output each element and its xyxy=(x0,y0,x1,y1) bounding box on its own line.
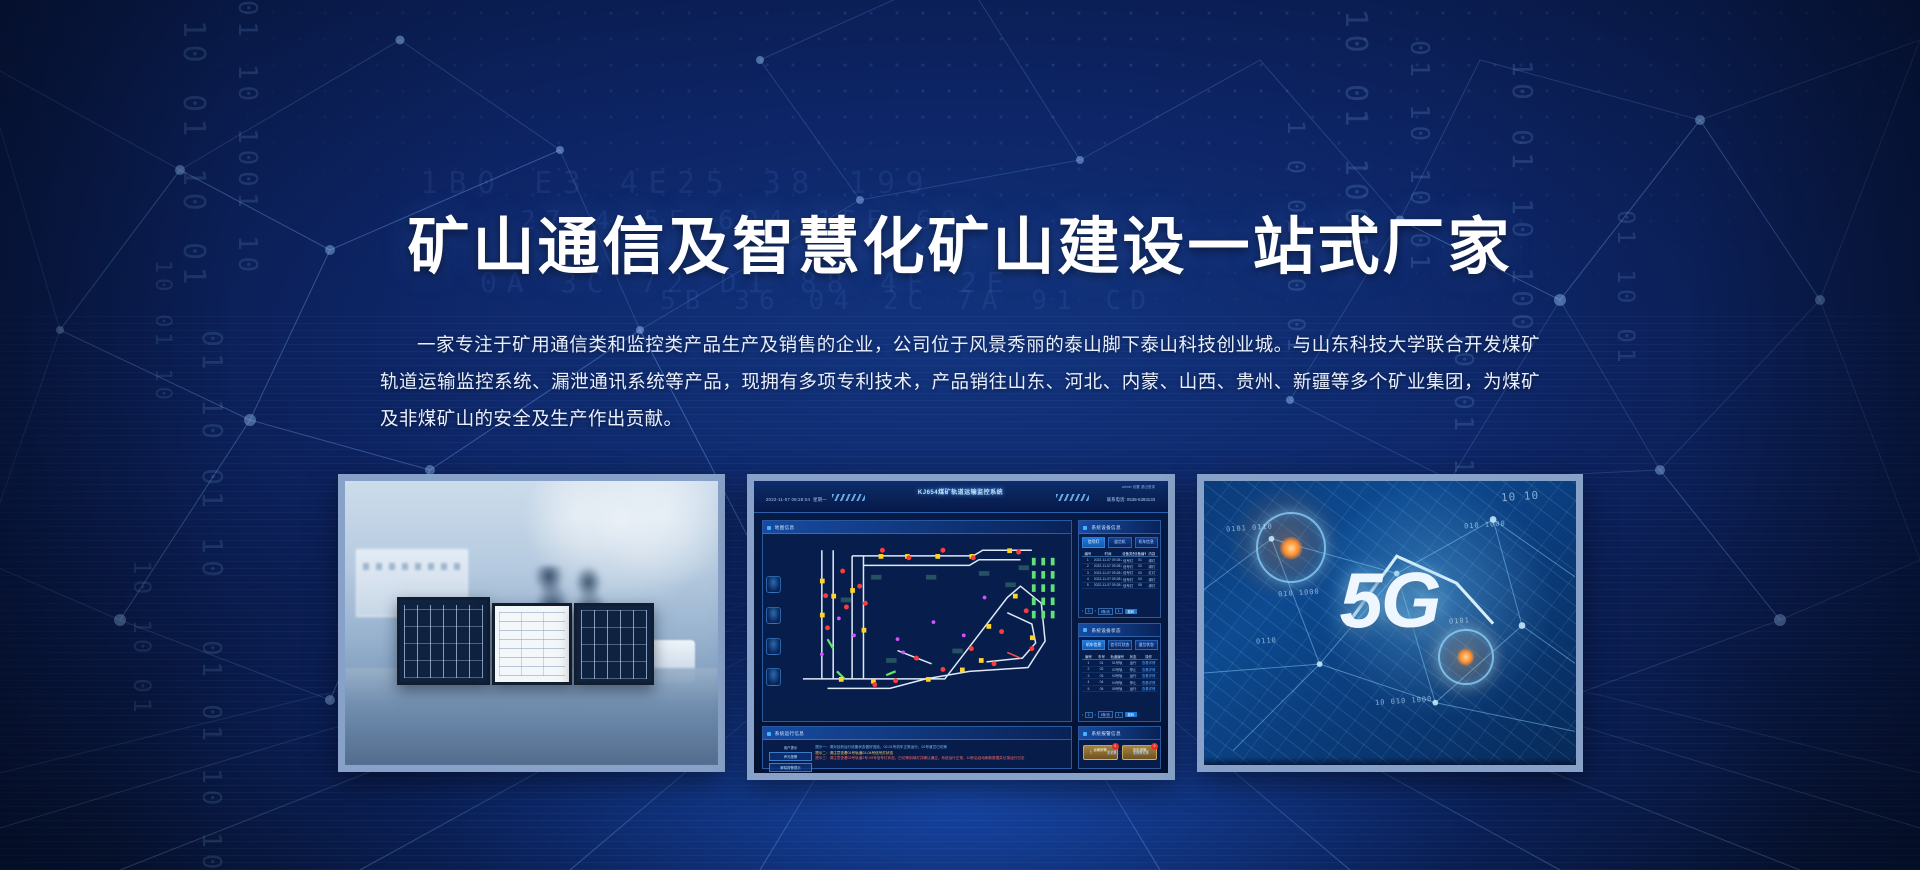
cell-type: 信号灯 xyxy=(1122,577,1134,582)
banner-content: 矿山通信及智慧化矿山建设一站式厂家 一家专注于矿用通信类和监控类产品生产及销售的… xyxy=(0,0,1920,870)
go-button[interactable]: 跳转 xyxy=(1125,712,1137,717)
clear-alarm-button[interactable]: 解除报警提示 xyxy=(769,763,812,772)
table-row[interactable]: 5 2022-11-07 09:28:29 信号灯 05 绿灯 xyxy=(1082,583,1158,589)
map-tool-print[interactable] xyxy=(766,607,782,624)
cell-status: 运行 xyxy=(1126,686,1139,691)
cell-type: 信号灯 xyxy=(1122,570,1134,575)
monitor-left xyxy=(397,597,490,685)
alarm-row: 2 无记录 无报警记录 xyxy=(1083,752,1157,754)
col-no: 编号 xyxy=(1082,654,1095,659)
binary-label: 10 10 xyxy=(1501,488,1540,504)
cell-track: 02号轨 xyxy=(1108,667,1126,672)
datetime-value: 2022-11-07 09:28:04 xyxy=(766,497,810,502)
cell-time: 2022-11-07 09:28:29 xyxy=(1094,577,1122,581)
cell-id: 02 xyxy=(1134,564,1146,568)
scada-user-menu[interactable]: admin 设置 退出登录 xyxy=(1122,485,1155,490)
map-tool-settings[interactable] xyxy=(766,668,782,685)
current-page[interactable]: 1 xyxy=(1085,608,1093,614)
panel-device-state: 系统设备状态 机车信息 信号灯状态 道岔状态 编号 车号 轨道编号 xyxy=(1078,623,1161,722)
device-state-pager[interactable]: ‹ 1 › 5条/页 1 跳转 xyxy=(1082,710,1158,719)
cell-id: 01 xyxy=(1134,558,1146,562)
image-bottom-fade xyxy=(1204,757,1576,765)
five-g-scene: 5G 0101 0110 010 1000 010 1000 0110 0101… xyxy=(1204,481,1576,765)
cell-no: 5 xyxy=(1082,583,1094,587)
cell-id: 05 xyxy=(1134,583,1146,587)
cell-id: 04 xyxy=(1134,577,1146,581)
gallery-item-control-room[interactable] xyxy=(338,474,725,772)
prev-page-icon[interactable]: ‹ xyxy=(1082,609,1083,613)
map-side-toolbar xyxy=(763,573,785,697)
cell-action-link[interactable]: 查看详情 xyxy=(1140,667,1158,672)
device-info-table: 编号 时间 设备类型 设备编号 内容 1 2022-11-07 09:28:29 xyxy=(1082,551,1158,606)
banner-stage: 10 01 10 01 01 10 1001 10 10 01 10 01 10… xyxy=(0,0,1920,870)
col-car: 车号 xyxy=(1095,654,1108,659)
cell-track: 03号轨 xyxy=(1108,673,1126,678)
col-track: 轨道编号 xyxy=(1108,654,1126,659)
tab-locomotive-state[interactable]: 机车信息 xyxy=(1082,640,1105,651)
scada-datetime: 2022-11-07 09:28:04 星期一 xyxy=(766,497,827,503)
per-page-select[interactable]: 5条/页 xyxy=(1098,608,1113,615)
five-g-logo-text: 5G xyxy=(1204,555,1576,646)
cell-type: 信号灯 xyxy=(1122,564,1134,569)
device-info-tabs: 信号灯 道岔机 机车信息 xyxy=(1082,537,1158,548)
scada-screenshot: KJ654煤矿轨道运输监控系统 2022-11-07 09:28:04 星期一 … xyxy=(754,481,1168,773)
cell-no: 3 xyxy=(1082,571,1094,575)
cell-car: 04 xyxy=(1095,680,1108,684)
scada-ui: KJ654煤矿轨道运输监控系统 2022-11-07 09:28:04 星期一 … xyxy=(754,481,1168,773)
cell-car: 01 xyxy=(1095,661,1108,665)
jump-page-input[interactable]: 1 xyxy=(1115,712,1123,718)
prev-page-icon[interactable]: ‹ xyxy=(1082,713,1083,717)
cell-content: 绿灯 xyxy=(1146,558,1158,563)
cell-action-link[interactable]: 查看详情 xyxy=(1140,673,1158,678)
run-log-messages: 提示一：请对目前运行设备状态做好巡检，02-01号机车正常运行，02号道岔已切换… xyxy=(815,745,1062,766)
image-gallery: KJ654煤矿轨道运输监控系统 2022-11-07 09:28:04 星期一 … xyxy=(0,474,1920,780)
panel-device-state-header: 系统设备状态 xyxy=(1079,624,1160,637)
monitor-right xyxy=(574,603,654,685)
cell-no: 1 xyxy=(1082,558,1094,562)
tab-signal-state[interactable]: 信号灯状态 xyxy=(1108,640,1131,651)
cell-track: 01号轨 xyxy=(1108,660,1126,665)
cell-no: 5 xyxy=(1082,687,1095,691)
device-info-pager[interactable]: ‹ 1 › 5条/页 1 跳转 xyxy=(1082,607,1158,616)
cell-no: 3 xyxy=(1082,674,1095,678)
cell-content: 绿灯 xyxy=(1146,583,1158,588)
col-no: 编号 xyxy=(1082,551,1094,556)
control-room-photo xyxy=(345,481,718,765)
cell-record: 无记录 xyxy=(1099,750,1125,755)
device-state-table: 编号 车号 轨道编号 状态 操作 1 01 01号轨 xyxy=(1082,654,1158,709)
control-room-scene xyxy=(345,481,718,765)
panel-map-header: 地图信息 xyxy=(763,521,1072,534)
cell-no: 1 xyxy=(1082,661,1095,665)
weekday-value: 星期一 xyxy=(813,497,827,502)
cell-track: 04号轨 xyxy=(1108,680,1126,685)
cell-action-link[interactable]: 查看详情 xyxy=(1140,660,1158,665)
cell-content: 绿灯 xyxy=(1146,564,1158,569)
cell-status: 运行 xyxy=(1126,673,1139,678)
cell-action-link[interactable]: 查看详情 xyxy=(1140,686,1158,691)
panel-run-log-header: 系统运行信息 xyxy=(763,727,1072,740)
table-row[interactable]: 5 05 05号轨 运行 查看详情 xyxy=(1082,686,1158,692)
cell-status: 停止 xyxy=(1126,680,1139,685)
scada-title: KJ654煤矿轨道运输监控系统 xyxy=(754,487,1168,496)
cell-no: 4 xyxy=(1082,577,1094,581)
col-type: 设备类型 xyxy=(1122,551,1134,556)
col-id: 设备编号 xyxy=(1134,551,1146,556)
cell-detail: 无报警记录 xyxy=(1125,750,1157,755)
gallery-item-scada-dashboard[interactable]: KJ654煤矿轨道运输监控系统 2022-11-07 09:28:04 星期一 … xyxy=(747,474,1175,780)
cell-time: 2022-11-07 09:28:29 xyxy=(1094,583,1122,587)
col-action: 操作 xyxy=(1140,654,1158,659)
monitor-center xyxy=(492,603,572,685)
current-page[interactable]: 1 xyxy=(1085,712,1093,718)
map-tool-history[interactable] xyxy=(766,638,782,655)
run-log-sidebar-title: 用户提示 xyxy=(769,745,812,750)
run-log-sidebar: 用户提示 声光报警 解除报警提示 xyxy=(769,745,812,766)
cell-action-link[interactable]: 查看详情 xyxy=(1140,680,1158,685)
cell-no: 4 xyxy=(1082,680,1095,684)
company-intro-paragraph: 一家专注于矿用通信类和监控类产品生产及销售的企业，公司位于风景秀丽的泰山脚下泰山… xyxy=(380,326,1540,437)
cell-status: 运行 xyxy=(1126,660,1139,665)
binary-label: 0110 xyxy=(1255,636,1276,645)
cell-status: 停止 xyxy=(1126,667,1139,672)
cell-type: 信号灯 xyxy=(1122,583,1134,588)
cell-car: 03 xyxy=(1095,674,1108,678)
col-content: 内容 xyxy=(1146,551,1158,556)
panel-device-info: 系统设备信息 信号灯 道岔机 机车信息 编号 时间 设备类型 xyxy=(1078,520,1161,618)
sound-alarm-button[interactable]: 声光报警 xyxy=(769,752,812,761)
cell-type: 信号灯 xyxy=(1122,558,1134,563)
panel-alarm-header: 系统报警信息 xyxy=(1079,727,1160,740)
cell-track: 05号轨 xyxy=(1108,686,1126,691)
go-button[interactable]: 跳转 xyxy=(1125,609,1137,614)
tab-signal-light[interactable]: 信号灯 xyxy=(1082,537,1105,548)
panel-device-info-header: 系统设备信息 xyxy=(1079,521,1160,534)
device-state-tabs: 机车信息 信号灯状态 道岔状态 xyxy=(1082,640,1158,651)
rail-network-diagram[interactable] xyxy=(784,537,1068,717)
tab-switch-machine[interactable]: 道岔机 xyxy=(1108,537,1131,548)
cell-time: 2022-11-07 09:28:29 xyxy=(1094,571,1122,575)
panel-alarm: 系统报警信息 运输报警 0 历史报警 0 xyxy=(1078,726,1161,768)
page-title: 矿山通信及智慧化矿山建设一站式厂家 xyxy=(0,196,1920,286)
cell-content: 绿灯 xyxy=(1146,577,1158,582)
per-page-select[interactable]: 5条/页 xyxy=(1098,711,1113,718)
next-page-icon[interactable]: › xyxy=(1095,713,1096,717)
cell-time: 2022-11-07 09:28:29 xyxy=(1094,564,1122,568)
col-status: 状态 xyxy=(1126,654,1139,659)
tab-locomotive-info[interactable]: 机车信息 xyxy=(1135,537,1158,548)
jump-page-input[interactable]: 1 xyxy=(1115,608,1123,614)
cell-time: 2022-11-07 09:28:29 xyxy=(1094,558,1122,562)
gallery-item-5g-concept[interactable]: 5G 0101 0110 010 1000 010 1000 0110 0101… xyxy=(1197,474,1583,772)
cell-id: 03 xyxy=(1134,571,1146,575)
map-tool-plan-query[interactable] xyxy=(766,576,782,593)
panel-run-log: 系统运行信息 用户提示 声光报警 解除报警提示 提示一：请对目前运行设备状态做好… xyxy=(762,726,1073,768)
cell-car: 02 xyxy=(1095,667,1108,671)
panel-map: 地图信息 xyxy=(762,520,1073,721)
next-page-icon[interactable]: › xyxy=(1095,609,1096,613)
cell-no: 2 xyxy=(1082,564,1094,568)
tab-switch-state[interactable]: 道岔状态 xyxy=(1135,640,1158,651)
five-g-image: 5G 0101 0110 010 1000 010 1000 0110 0101… xyxy=(1204,481,1576,765)
cell-car: 05 xyxy=(1095,687,1108,691)
cell-content: 红灯 xyxy=(1146,570,1158,575)
cell-no: 2 xyxy=(1083,751,1099,755)
log-line: 提示三：请注意查看02号轨道2号-05号信号灯状态，已切换到绿灯并确认通过，系统… xyxy=(815,756,1062,762)
cell-no: 2 xyxy=(1082,667,1095,671)
col-time: 时间 xyxy=(1094,551,1122,556)
alarm-list: 1 无记录 无报警记录 2 无记录 无报警记录 xyxy=(1083,751,1157,767)
scada-contact-phone: 联系电话: 0538-6393133 xyxy=(1107,497,1155,503)
